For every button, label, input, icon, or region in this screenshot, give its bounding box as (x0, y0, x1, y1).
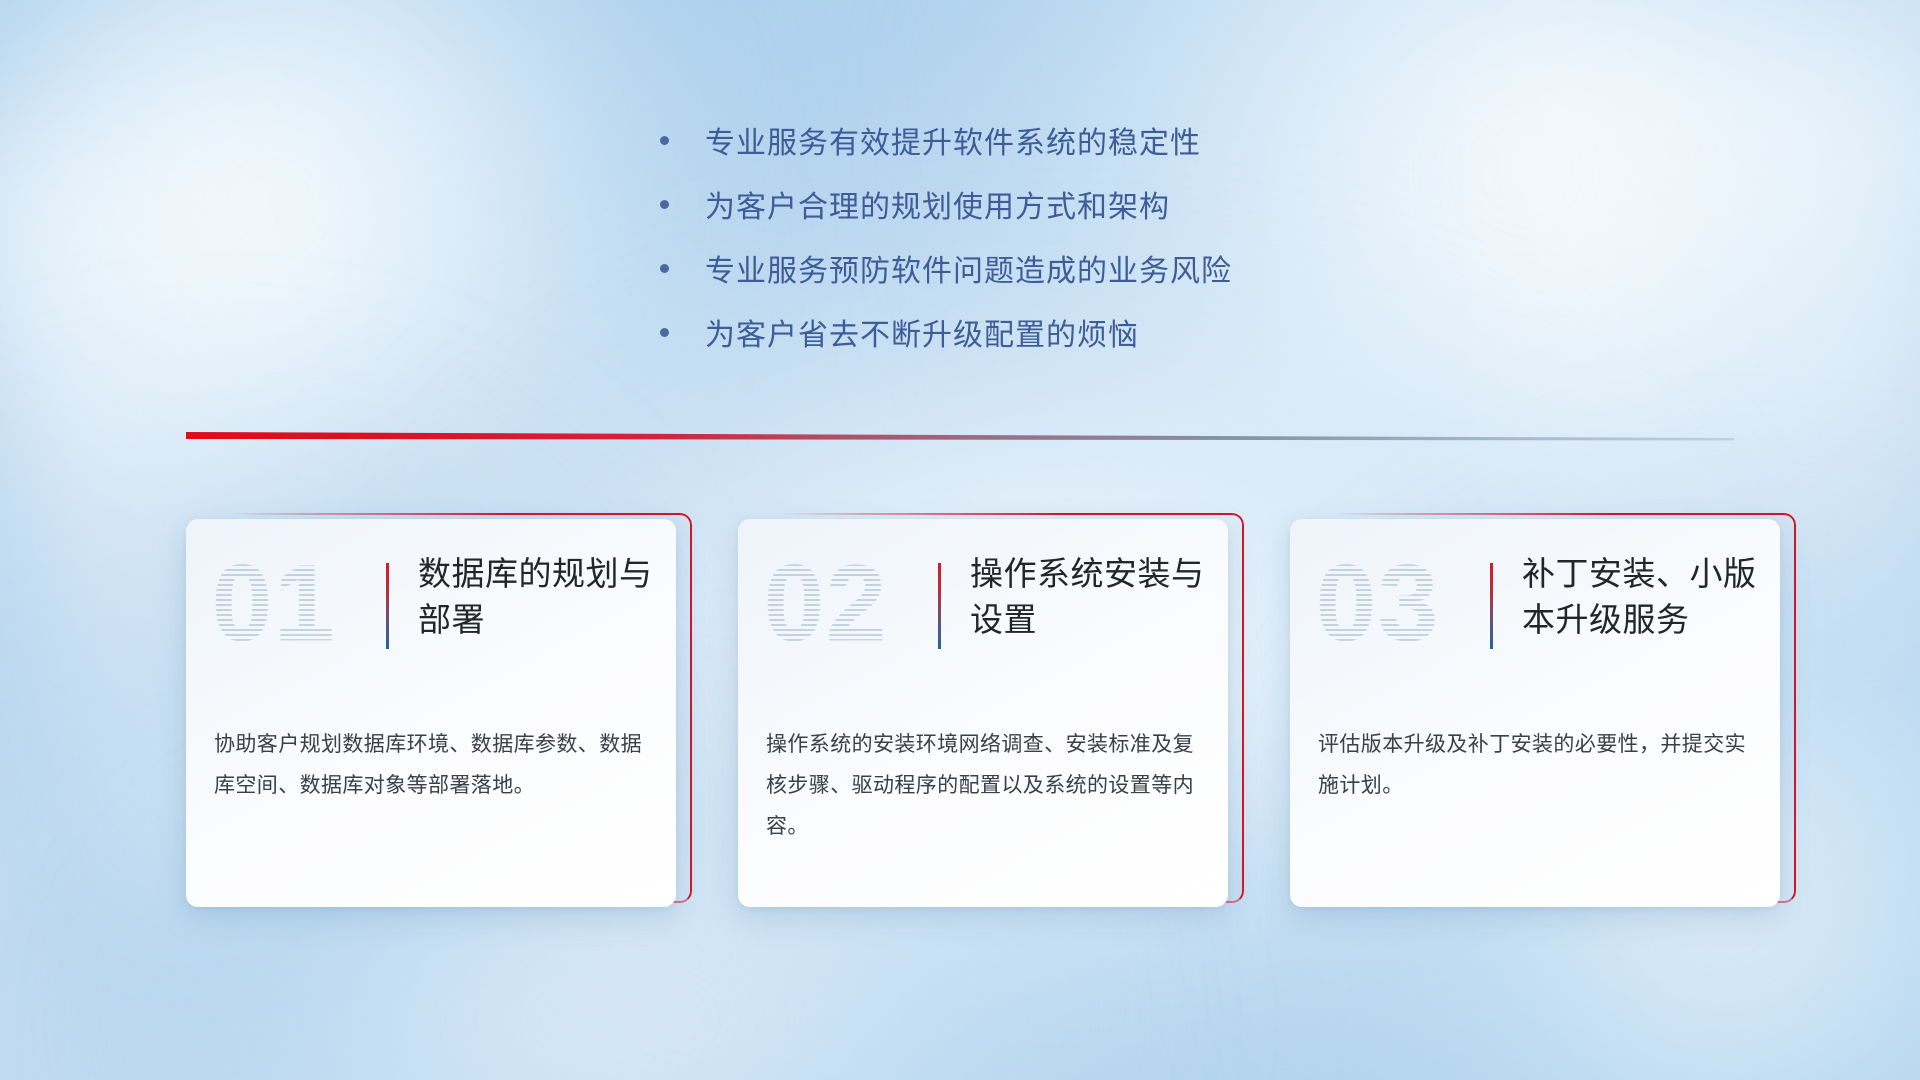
bullet-text: 为客户合理的规划使用方式和架构 (705, 182, 1170, 226)
card-accent-bar (1490, 563, 1493, 649)
bullet-dot-icon (660, 200, 669, 209)
service-card-03[interactable]: 03 补丁安装、小版本升级服务 评估版本升级及补丁安装的必要性，并提交实施计划。 (1290, 519, 1786, 909)
bullet-text: 为客户省去不断升级配置的烦恼 (705, 310, 1139, 354)
card-surface: 02 操作系统安装与设置 操作系统的安装环境网络调查、安装标准及复核步骤、驱动程… (738, 519, 1228, 907)
card-ghost-number: 01 (212, 549, 336, 657)
card-header: 02 操作系统安装与设置 (738, 519, 1228, 719)
list-item: 为客户省去不断升级配置的烦恼 (660, 300, 1232, 364)
list-item: 专业服务有效提升软件系统的稳定性 (660, 108, 1232, 172)
card-surface: 01 数据库的规划与部署 协助客户规划数据库环境、数据库参数、数据库空间、数据库… (186, 519, 676, 907)
bullet-text: 专业服务预防软件问题造成的业务风险 (705, 246, 1232, 290)
card-header: 03 补丁安装、小版本升级服务 (1290, 519, 1780, 719)
divider-wedge-shape (186, 425, 1734, 451)
list-item: 为客户合理的规划使用方式和架构 (660, 172, 1232, 236)
card-title: 补丁安装、小版本升级服务 (1522, 551, 1762, 642)
bullet-dot-icon (660, 136, 669, 145)
card-ghost-number: 02 (764, 549, 888, 657)
bullet-text: 专业服务有效提升软件系统的稳定性 (705, 118, 1201, 162)
card-title: 数据库的规划与部署 (418, 551, 658, 642)
service-card-01[interactable]: 01 数据库的规划与部署 协助客户规划数据库环境、数据库参数、数据库空间、数据库… (186, 519, 682, 909)
service-card-02[interactable]: 02 操作系统安装与设置 操作系统的安装环境网络调查、安装标准及复核步骤、驱动程… (738, 519, 1234, 909)
card-accent-bar (938, 563, 941, 649)
card-header: 01 数据库的规划与部署 (186, 519, 676, 719)
service-cards-row: 01 数据库的规划与部署 协助客户规划数据库环境、数据库参数、数据库空间、数据库… (0, 519, 1920, 929)
section-divider (186, 425, 1734, 451)
card-title: 操作系统安装与设置 (970, 551, 1210, 642)
card-description: 协助客户规划数据库环境、数据库参数、数据库空间、数据库对象等部署落地。 (214, 725, 650, 807)
card-accent-bar (386, 563, 389, 649)
card-description: 评估版本升级及补丁安装的必要性，并提交实施计划。 (1318, 725, 1754, 807)
card-ghost-number: 03 (1316, 549, 1440, 657)
bullet-dot-icon (660, 264, 669, 273)
card-surface: 03 补丁安装、小版本升级服务 评估版本升级及补丁安装的必要性，并提交实施计划。 (1290, 519, 1780, 907)
benefits-bullet-list: 专业服务有效提升软件系统的稳定性 为客户合理的规划使用方式和架构 专业服务预防软… (660, 108, 1232, 364)
card-description: 操作系统的安装环境网络调查、安装标准及复核步骤、驱动程序的配置以及系统的设置等内… (766, 725, 1202, 848)
list-item: 专业服务预防软件问题造成的业务风险 (660, 236, 1232, 300)
bullet-dot-icon (660, 328, 669, 337)
